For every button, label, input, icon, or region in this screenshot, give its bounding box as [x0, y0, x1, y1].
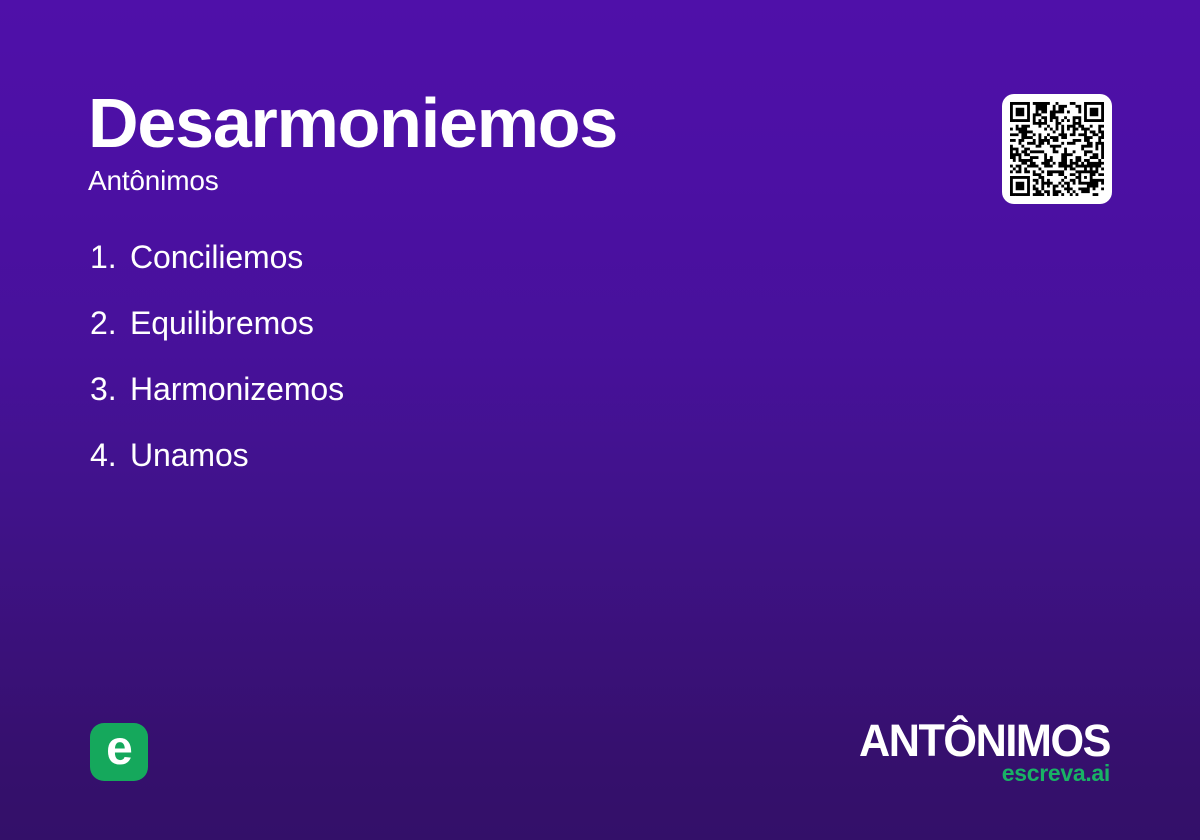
antonym-index: 2. — [90, 304, 130, 342]
antonym-list-item: 2.Equilibremos — [90, 304, 890, 342]
antonym-list-item: 3.Harmonizemos — [90, 370, 890, 408]
qr-code-card[interactable] — [1002, 94, 1112, 204]
antonym-word-card: Desarmoniemos Antônimos 1.Conciliemos2.E… — [0, 0, 1200, 840]
brand-wordmark: ANTÔNIMOS escreva.ai — [810, 718, 1110, 785]
antonym-index: 3. — [90, 370, 130, 408]
antonym-word: Equilibremos — [130, 304, 314, 342]
page-title: Desarmoniemos — [88, 84, 948, 162]
antonym-word: Unamos — [130, 436, 249, 474]
antonym-word: Harmonizemos — [130, 370, 344, 408]
antonym-word: Conciliemos — [130, 238, 303, 276]
escreva-logo-letter: e — [106, 725, 132, 773]
antonym-index: 4. — [90, 436, 130, 474]
brand-name: ANTÔNIMOS — [822, 718, 1110, 764]
antonym-index: 1. — [90, 238, 130, 276]
headline-block: Desarmoniemos Antônimos — [88, 84, 948, 198]
qr-code-icon — [1010, 102, 1104, 196]
antonym-list-item: 1.Conciliemos — [90, 238, 890, 276]
antonym-list-item: 4.Unamos — [90, 436, 890, 474]
antonym-list: 1.Conciliemos2.Equilibremos3.Harmonizemo… — [90, 238, 890, 474]
escreva-logo-badge[interactable]: e — [90, 723, 148, 781]
page-subtitle: Antônimos — [88, 164, 948, 198]
